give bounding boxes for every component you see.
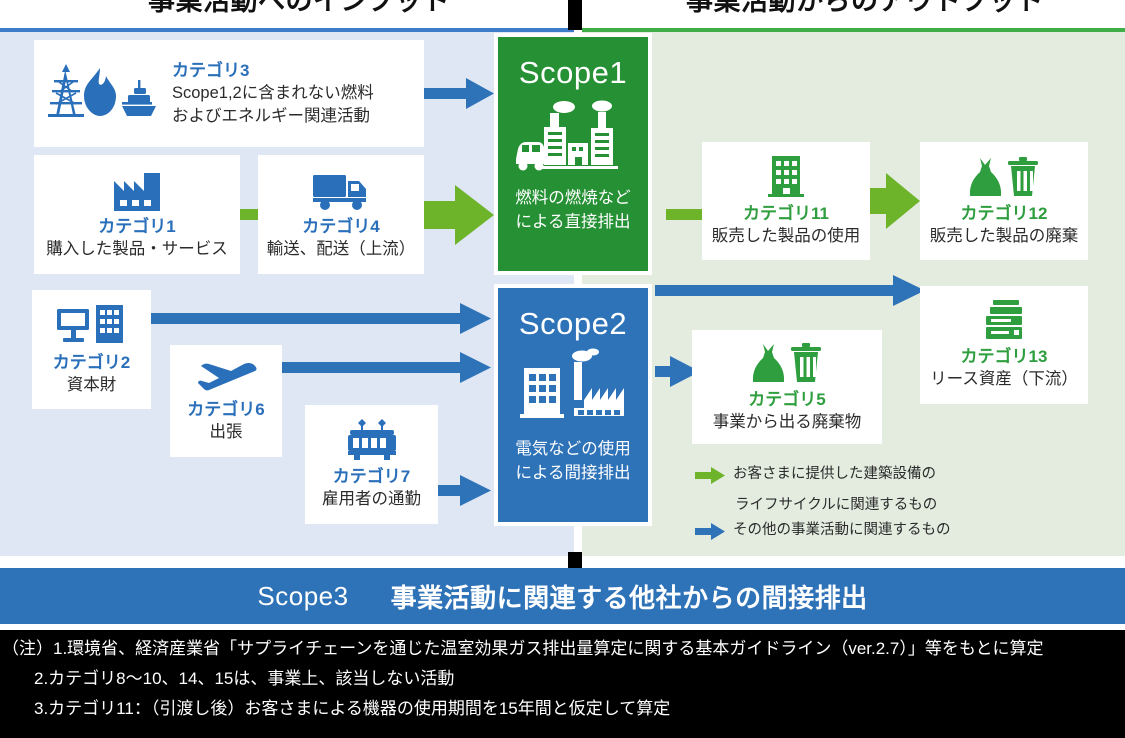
card-category-11-label: カテゴリ11	[743, 203, 829, 225]
pylon-flame-ship-icon	[48, 62, 156, 125]
building-plant-icon	[514, 346, 632, 427]
legend: お客さまに提供した建築設備の ライフサイクルに関連するもの その他の事業活動に関…	[695, 462, 1025, 549]
card-category-13[interactable]: カテゴリ13 リース資産（下流）	[920, 286, 1088, 404]
copier-icon	[981, 299, 1027, 346]
card-category-3-desc-1: Scope1,2に含まれない燃料	[172, 82, 374, 105]
card-category-11[interactable]: カテゴリ11 販売した製品の使用	[702, 142, 870, 260]
card-category-11-desc: 販売した製品の使用	[712, 225, 861, 248]
monitor-building-icon	[56, 303, 128, 352]
card-category-13-desc: リース資産（下流）	[930, 368, 1078, 391]
card-category-1-label: カテゴリ1	[98, 216, 175, 238]
scope3-title: Scope3	[257, 581, 348, 612]
input-section-title: 事業活動へのインプット	[148, 0, 450, 18]
legend-item-blue: その他の事業活動に関連するもの	[695, 518, 1025, 549]
scope1-title: Scope1	[519, 55, 627, 91]
card-category-1[interactable]: カテゴリ1 購入した製品・サービス	[34, 155, 240, 274]
legend-green-text-2: ライフサイクルに関連するもの	[735, 493, 1025, 518]
card-category-4-label: カテゴリ4	[302, 216, 379, 238]
truck-icon	[312, 169, 370, 216]
scope2-title: Scope2	[519, 306, 627, 342]
legend-item-green: お客さまに提供した建築設備の	[695, 462, 1025, 493]
card-category-1-desc: 購入した製品・サービス	[46, 238, 228, 261]
card-category-13-label: カテゴリ13	[961, 346, 1048, 368]
card-category-6-label: カテゴリ6	[187, 399, 264, 421]
scope-emissions-diagram: 事業活動へのインプット 事業活動からのアウトプット	[0, 0, 1125, 738]
card-category-2-desc: 資本財	[67, 374, 117, 397]
card-category-5[interactable]: カテゴリ5 事業から出る廃棄物	[692, 330, 882, 444]
legend-blue-text-1: その他の事業活動に関連するもの	[733, 518, 951, 543]
scope1-box[interactable]: Scope1	[494, 33, 652, 275]
card-category-2-label: カテゴリ2	[53, 352, 130, 374]
card-category-7-desc: 雇用者の通勤	[322, 488, 421, 511]
scope2-desc-2: による間接排出	[515, 461, 630, 485]
card-category-3-desc-2: およびエネルギー関連活動	[172, 105, 370, 128]
card-category-4[interactable]: カテゴリ4 輸送、配送（上流）	[258, 155, 424, 274]
scope3-banner[interactable]: Scope3 事業活動に関連する他社からの間接排出	[0, 568, 1125, 624]
trash-bag-bin-icon	[966, 154, 1042, 203]
scope3-desc: 事業活動に関連する他社からの間接排出	[391, 578, 868, 615]
footnote-1: （注）1.環境省、経済産業省「サプライチェーンを通じた温室効果ガス排出量算定に関…	[0, 634, 1125, 664]
center-divider-top	[568, 0, 582, 30]
factory-icon	[110, 169, 164, 216]
card-category-12[interactable]: カテゴリ12 販売した製品の廃棄	[920, 142, 1088, 260]
trash-bag-bin-icon	[749, 340, 825, 389]
scope1-desc-2: による直接排出	[515, 210, 630, 234]
scope2-desc-1: 電気などの使用	[515, 437, 631, 461]
center-divider-bottom	[568, 552, 582, 568]
footnotes: （注）1.環境省、経済産業省「サプライチェーンを通じた温室効果ガス排出量算定に関…	[0, 630, 1125, 738]
output-section-title: 事業活動からのアウトプット	[686, 0, 1044, 18]
card-category-2[interactable]: カテゴリ2 資本財	[32, 290, 151, 409]
building-icon	[766, 154, 806, 203]
legend-green-text-1: お客さまに提供した建築設備の	[733, 462, 936, 487]
footnote-3: 3.カテゴリ11：（引渡し後）お客さまによる機器の使用期間を15年間と仮定して算…	[0, 694, 1125, 724]
card-category-4-desc: 輸送、配送（上流）	[267, 238, 416, 261]
factory-car-icon	[514, 97, 632, 178]
card-category-5-label: カテゴリ5	[748, 389, 825, 411]
tram-icon	[344, 419, 400, 466]
card-category-6-desc: 出張	[210, 421, 243, 444]
footnote-2: 2.カテゴリ8〜10、14、15は、事業上、該当しない活動	[0, 664, 1125, 694]
scope1-desc-1: 燃料の燃焼など	[515, 186, 631, 210]
blue-arrow-icon	[695, 518, 725, 549]
green-arrow-icon	[695, 462, 725, 493]
card-category-6[interactable]: カテゴリ6 出張	[170, 345, 282, 457]
card-category-7-label: カテゴリ7	[333, 466, 410, 488]
card-category-12-desc: 販売した製品の廃棄	[930, 225, 1079, 248]
card-category-7[interactable]: カテゴリ7 雇用者の通勤	[305, 405, 438, 524]
airplane-icon	[195, 358, 257, 399]
card-category-5-desc: 事業から出る廃棄物	[713, 411, 862, 434]
card-category-3-label: カテゴリ3	[172, 60, 249, 82]
card-category-3[interactable]: カテゴリ3 Scope1,2に含まれない燃料 およびエネルギー関連活動	[34, 40, 424, 147]
card-category-12-label: カテゴリ12	[961, 203, 1048, 225]
scope2-box[interactable]: Scope2	[494, 284, 652, 526]
